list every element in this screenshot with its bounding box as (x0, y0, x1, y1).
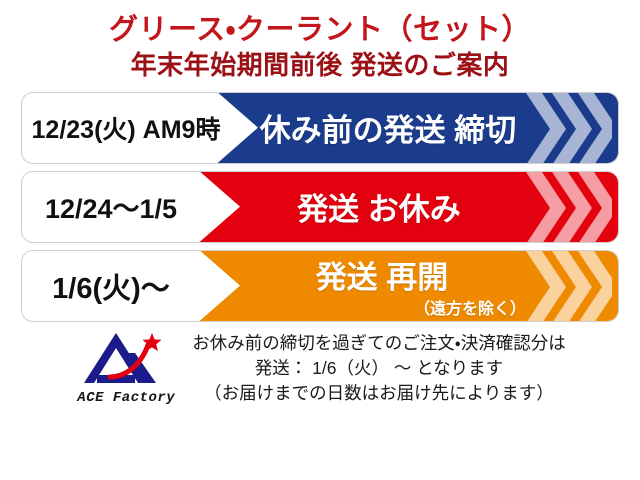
shipping-schedule-banner: グリース・クーラント（セット） 年末年始期間前後 発送のご案内 12/23(火)… (0, 0, 640, 480)
brand-logo: ACE Factory (74, 331, 178, 406)
row-status-text-closed: 発送 お休み (297, 184, 461, 229)
schedule-row-deadline: 12/23(火) AM9時 休み前の発送 締切 (21, 92, 619, 164)
footer-notice-line1: お休み前の締切を過ぎてのご注文・決済確認分は (192, 331, 565, 356)
ace-factory-logo-icon (80, 331, 172, 389)
row-status-closed: 発送 お休み (236, 172, 522, 242)
row-status-resume: 発送 再開 （遠方を除く） (236, 251, 528, 321)
footer-notice: お休み前の締切を過ぎてのご注文・決済確認分は 発送： 1/6（火） ～ となりま… (192, 331, 565, 407)
page-title-line2: 年末年始期間前後 発送のご案内 (0, 51, 640, 81)
row-date-closed: 12/24〜1/5 (22, 172, 200, 242)
page-title-line1: グリース・クーラント（セット） (0, 14, 640, 47)
brand-logo-text: ACE Factory (77, 390, 175, 406)
footer: ACE Factory お休み前の締切を過ぎてのご注文・決済確認分は 発送： 1… (0, 331, 640, 407)
row-status-deadline: 休み前の発送 締切 (254, 93, 522, 163)
title-block: グリース・クーラント（セット） 年末年始期間前後 発送のご案内 (0, 0, 640, 81)
schedule-rows: 12/23(火) AM9時 休み前の発送 締切 12/24〜1/5 (0, 92, 640, 322)
row-status-text-resume: 発送 再開 (316, 252, 449, 297)
row-status-text-deadline: 休み前の発送 締切 (260, 105, 517, 150)
footer-notice-line2: 発送： 1/6（火） ～ となります (192, 356, 565, 381)
schedule-row-closed: 12/24〜1/5 発送 お休み (21, 171, 619, 243)
row-status-note-resume: （遠方を除く） (414, 295, 528, 319)
row-date-resume: 1/6(火)〜 (22, 251, 200, 321)
footer-notice-line3: （お届けまでの日数はお届け先によります） (192, 381, 565, 406)
row-date-deadline: 12/23(火) AM9時 (22, 93, 224, 163)
schedule-row-resume: 1/6(火)〜 発送 再開 （遠方を除く） (21, 250, 619, 322)
